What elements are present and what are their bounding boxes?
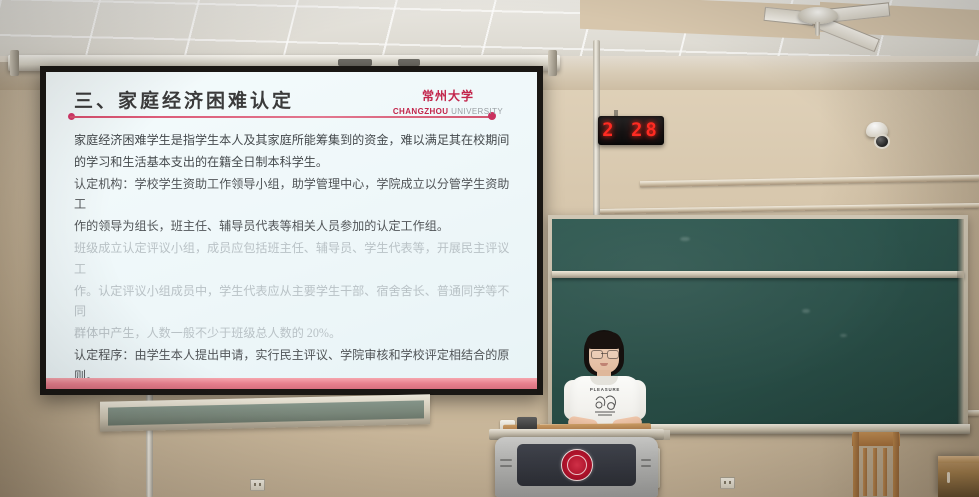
lectern-front-panel	[517, 444, 636, 486]
classroom-scene: 三、家庭经济困难认定 常州大学 CHANGZHOU UNIVERSITY 家庭经…	[0, 0, 979, 497]
slide-paragraph: 班级成立认定评议小组，成员应包括班主任、辅导员、学生代表等，开展民主评议工	[74, 238, 513, 280]
presentation-slide: 三、家庭经济困难认定 常州大学 CHANGZHOU UNIVERSITY 家庭经…	[46, 72, 537, 389]
glasses-lens-left	[591, 350, 603, 359]
camera-lens-icon	[874, 134, 890, 149]
slide-paragraph: 作的领导为组长，班主任、辅导员代表等相关人员参加的认定工作组。	[74, 216, 513, 237]
chalk-smudge	[680, 237, 690, 241]
slide-paragraph: 的学习和生活基本支出的在籍全日制本科学生。	[74, 152, 513, 173]
clock-digits: 2 28	[602, 121, 660, 140]
projection-screen: 三、家庭经济困难认定 常州大学 CHANGZHOU UNIVERSITY 家庭经…	[40, 66, 543, 395]
university-seal-icon	[561, 449, 593, 481]
side-board-surface	[108, 400, 424, 425]
wall-outlet-icon	[250, 479, 265, 491]
seal-inner-ring	[567, 455, 587, 475]
slide-paragraph: 作。认定评议小组成员中，学生代表应从主要学生干部、宿舍舍长、普通同学等不同	[74, 281, 513, 323]
outlet-slot	[729, 481, 731, 484]
fan-stem	[815, 22, 820, 36]
chair-post-right	[893, 432, 899, 497]
cabinet-handle	[947, 472, 950, 483]
university-brand: 常州大学 CHANGZHOU UNIVERSITY	[385, 87, 511, 116]
outlet-slot	[724, 481, 726, 484]
screen-surface: 三、家庭经济困难认定 常州大学 CHANGZHOU UNIVERSITY 家庭经…	[46, 72, 537, 389]
brand-name-en: CHANGZHOU UNIVERSITY	[385, 107, 511, 116]
slide-body: 家庭经济困难学生是指学生本人及其家庭所能筹集到的资金，难以满足其在校期间 的学习…	[68, 130, 517, 389]
slide-paragraph: 家庭经济困难学生是指学生本人及其家庭所能筹集到的资金，难以满足其在校期间	[74, 130, 513, 151]
screen-housing-panel	[398, 59, 420, 66]
screen-bracket	[10, 50, 19, 76]
chalk-smudge	[802, 309, 810, 313]
outlet-slot	[254, 483, 256, 486]
slide-paragraph: 认定机构：学校学生资助工作领导小组，助学管理中心，学院成立以分管学生资助工	[74, 174, 513, 216]
wooden-chair	[852, 432, 900, 497]
ceiling-fan	[770, 4, 900, 44]
lectern	[495, 437, 658, 497]
chair-post-left	[853, 432, 859, 497]
cabinet-top	[938, 456, 979, 463]
lectern-vent	[641, 459, 651, 461]
chair-slat	[873, 448, 877, 496]
title-underline	[70, 116, 492, 118]
lectern-vent	[500, 459, 512, 461]
glasses-lens-right	[607, 350, 619, 359]
brand-name-en-bold: CHANGZHOU	[393, 107, 449, 116]
slide-header: 三、家庭经济困难认定 常州大学 CHANGZHOU UNIVERSITY	[68, 86, 517, 128]
slide-paragraph: 群体中产生，人数一般不少于班级总人数的 20%。	[74, 323, 513, 344]
lectern-vent	[500, 465, 512, 467]
slide-title: 三、家庭经济困难认定	[74, 86, 294, 113]
outlet-slot	[259, 483, 261, 486]
screen-bracket	[548, 50, 557, 76]
wall-outlet-icon	[720, 477, 735, 489]
screen-housing-panel	[338, 59, 372, 66]
lectern-vent	[641, 465, 651, 467]
hair-fringe	[586, 332, 622, 349]
wooden-cabinet	[938, 456, 979, 497]
lectern-body	[495, 437, 658, 497]
shirt-graphic-icon	[588, 388, 622, 418]
brand-name-cn: 常州大学	[385, 87, 511, 104]
brand-name-en-light: UNIVERSITY	[448, 107, 503, 116]
chalk-tray-divider	[552, 271, 964, 278]
chalkboard-right-edge	[957, 219, 964, 426]
digital-clock: 2 28	[598, 116, 664, 145]
chair-slat	[863, 448, 867, 496]
chair-slat	[883, 448, 887, 496]
glasses-bridge	[601, 353, 607, 354]
slide-footer-band	[46, 378, 537, 389]
chalk-smudge	[840, 334, 847, 337]
